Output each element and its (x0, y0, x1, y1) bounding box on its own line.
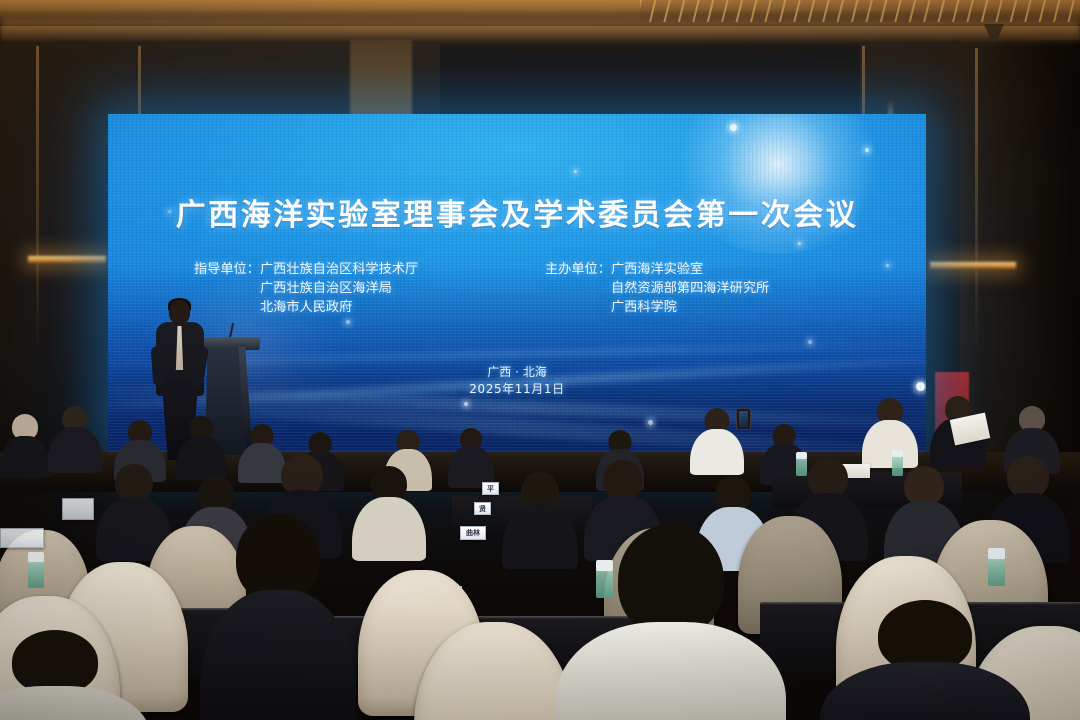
conference-photo: 广西海洋实验室理事会及学术委员会第一次会议 指导单位：广西壮族自治区科学技术厅 … (0, 0, 1080, 720)
attendee-far (0, 414, 50, 474)
wall-seam-1 (36, 46, 39, 346)
accent-light-strip-left (28, 256, 106, 263)
speaker-head (169, 300, 190, 324)
attendee-head (618, 524, 724, 636)
particle-dot (798, 242, 801, 245)
attendee-far (862, 398, 918, 468)
attendee-shoulders (200, 590, 356, 720)
attendee-shoulders (352, 497, 426, 561)
attendee-foreground-white-shirt (556, 524, 786, 720)
accent-light-strip-right (930, 262, 1016, 269)
name-placard-left-small (0, 528, 44, 548)
guidance-item-2: 北海市人民政府 (194, 298, 418, 317)
name-placard-mid-0: 平 (482, 482, 499, 495)
particle-dot (886, 264, 889, 267)
slide-main-title: 广西海洋实验室理事会及学术委员会第一次会议 (108, 190, 926, 234)
guidance-units-block: 指导单位：广西壮族自治区科学技术厅 广西壮族自治区海洋局 北海市人民政府 (194, 260, 418, 317)
host-units-block: 主办单位：广西海洋实验室 自然资源部第四海洋研究所 广西科学院 (545, 260, 769, 317)
attendee-foreground-left (0, 630, 150, 720)
particle-dot (574, 170, 577, 173)
attendee-shoulders (0, 436, 50, 478)
guidance-label: 指导单位： (194, 262, 260, 277)
host-item-2: 广西科学院 (545, 298, 769, 317)
attendee-far (176, 416, 226, 476)
attendee-head (808, 458, 848, 498)
wall-seam-4 (975, 48, 978, 348)
attendee-far (48, 406, 102, 472)
attendee-mid (352, 466, 426, 558)
name-placard-left-small-2 (62, 498, 94, 520)
attendee-shoulders (820, 662, 1030, 720)
ceiling-slats (640, 0, 1080, 22)
host-line-0: 主办单位：广西海洋实验室 (545, 260, 769, 279)
attendee-shoulders (556, 622, 786, 720)
particle-dot (346, 320, 350, 324)
bottle-cap (892, 450, 903, 457)
attendee-shoulders (862, 420, 918, 468)
particle-dot (808, 340, 812, 344)
particle-dot (865, 148, 869, 152)
attendee-shoulders (48, 427, 102, 473)
guidance-item-1: 广西壮族自治区海洋局 (194, 279, 418, 298)
attendee-shoulders (690, 429, 744, 475)
smartphone-camera (736, 408, 751, 430)
name-placard-mid-1: 贤 (474, 502, 491, 515)
attendee-far (448, 428, 494, 486)
host-label: 主办单位： (545, 262, 611, 277)
attendee-head (12, 630, 98, 694)
attendee-shoulders (176, 436, 226, 480)
bottle-cap (988, 548, 1005, 559)
particle-dot (730, 124, 737, 131)
guidance-item-0: 广西壮族自治区科学技术厅 (260, 262, 418, 277)
attendee-foreground-dark-suit (200, 514, 356, 720)
phone-screen (739, 411, 748, 427)
attendee-head (603, 460, 643, 500)
bottle-cap (28, 552, 44, 562)
attendee-head (236, 514, 320, 602)
name-placard-mid-2: 曲林 (460, 526, 486, 540)
host-item-0: 广西海洋实验室 (611, 262, 703, 277)
audience-area: 平 贤 曲林 (0, 380, 1080, 720)
water-bottle (28, 552, 44, 588)
attendee-shoulders (0, 686, 150, 720)
guidance-line-0: 指导单位：广西壮族自治区科学技术厅 (194, 260, 418, 279)
attendee-head (904, 466, 944, 506)
attendee-head (1007, 456, 1049, 498)
host-item-1: 自然资源部第四海洋研究所 (545, 279, 769, 298)
attendee-foreground-right (820, 600, 1030, 720)
water-bottle (988, 548, 1005, 586)
